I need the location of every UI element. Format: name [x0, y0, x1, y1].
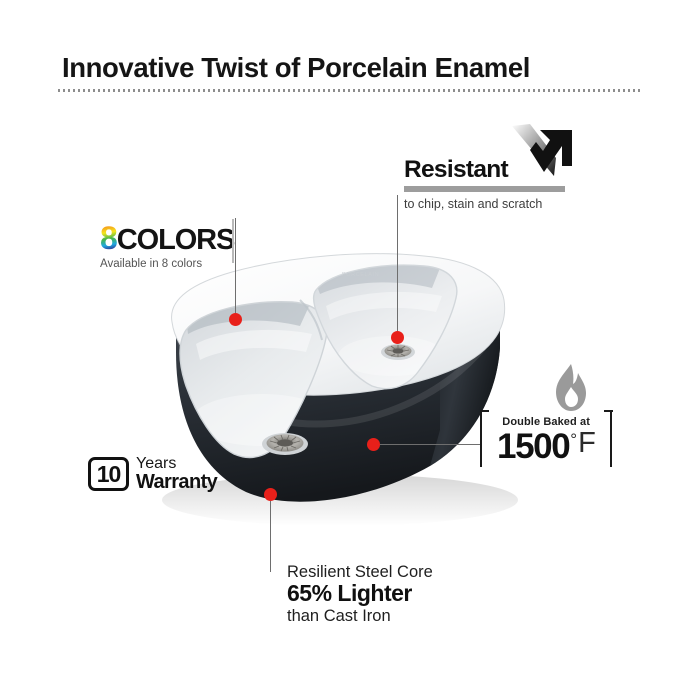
flame-icon: [552, 363, 588, 413]
hotspot-dot-steel: [264, 488, 277, 501]
warranty-years-label: Years: [136, 456, 217, 472]
temperature-bracket: Double Baked at 1500 ° F: [480, 412, 612, 467]
warranty-number: 10: [97, 463, 121, 486]
hotspot-dot-colors: [229, 313, 242, 326]
degree-symbol: °: [570, 431, 577, 448]
hotspot-dot-resistant: [391, 331, 404, 344]
temperature-value: 1500: [497, 429, 569, 464]
callout-temperature: Double Baked at 1500 ° F: [480, 364, 612, 467]
colors-divider: [232, 219, 234, 263]
colors-number: 8: [100, 222, 117, 254]
resistant-rule: [404, 186, 565, 192]
resistant-headline: Resistant: [404, 152, 565, 182]
drain-left: [262, 433, 308, 455]
colors-headline: 8 COLORS: [100, 222, 234, 255]
callout-warranty: 10 Years Warranty: [88, 456, 217, 493]
callout-steel-core: Resilient Steel Core 65% Lighter than Ca…: [287, 563, 433, 626]
svg-text:PORCELAIN: PORCELAIN: [342, 272, 379, 278]
steel-core-line3: than Cast Iron: [287, 607, 433, 625]
warranty-badge: 10: [88, 457, 129, 491]
hotspot-dot-temp: [367, 438, 380, 451]
resistant-title: Resistant: [404, 158, 508, 183]
warranty-text-block: Years Warranty: [136, 456, 217, 493]
leader-line-steel: [270, 494, 271, 572]
resistant-subtitle: to chip, stain and scratch: [404, 197, 565, 211]
steel-core-line1: Resilient Steel Core: [287, 563, 433, 581]
temperature-unit: F: [578, 429, 595, 458]
callout-colors: 8 COLORS Available in 8 colors: [100, 222, 234, 270]
colors-subtitle: Available in 8 colors: [100, 258, 234, 270]
infographic-canvas: Innovative Twist of Porcelain Enamel: [0, 0, 700, 700]
leader-line-temp: [379, 444, 480, 445]
callout-resistant: Resistant to chip, stain and scratch: [404, 152, 565, 211]
leader-line-resistant: [397, 195, 398, 336]
drain-right: [381, 344, 415, 360]
steel-core-line2: 65% Lighter: [287, 581, 433, 607]
warranty-word-label: Warranty: [136, 472, 217, 492]
temperature-value-row: 1500 ° F: [497, 429, 595, 464]
upward-arrow-icon: [510, 124, 574, 182]
leader-line-colors: [235, 218, 236, 318]
colors-word: COLORS: [117, 226, 234, 255]
